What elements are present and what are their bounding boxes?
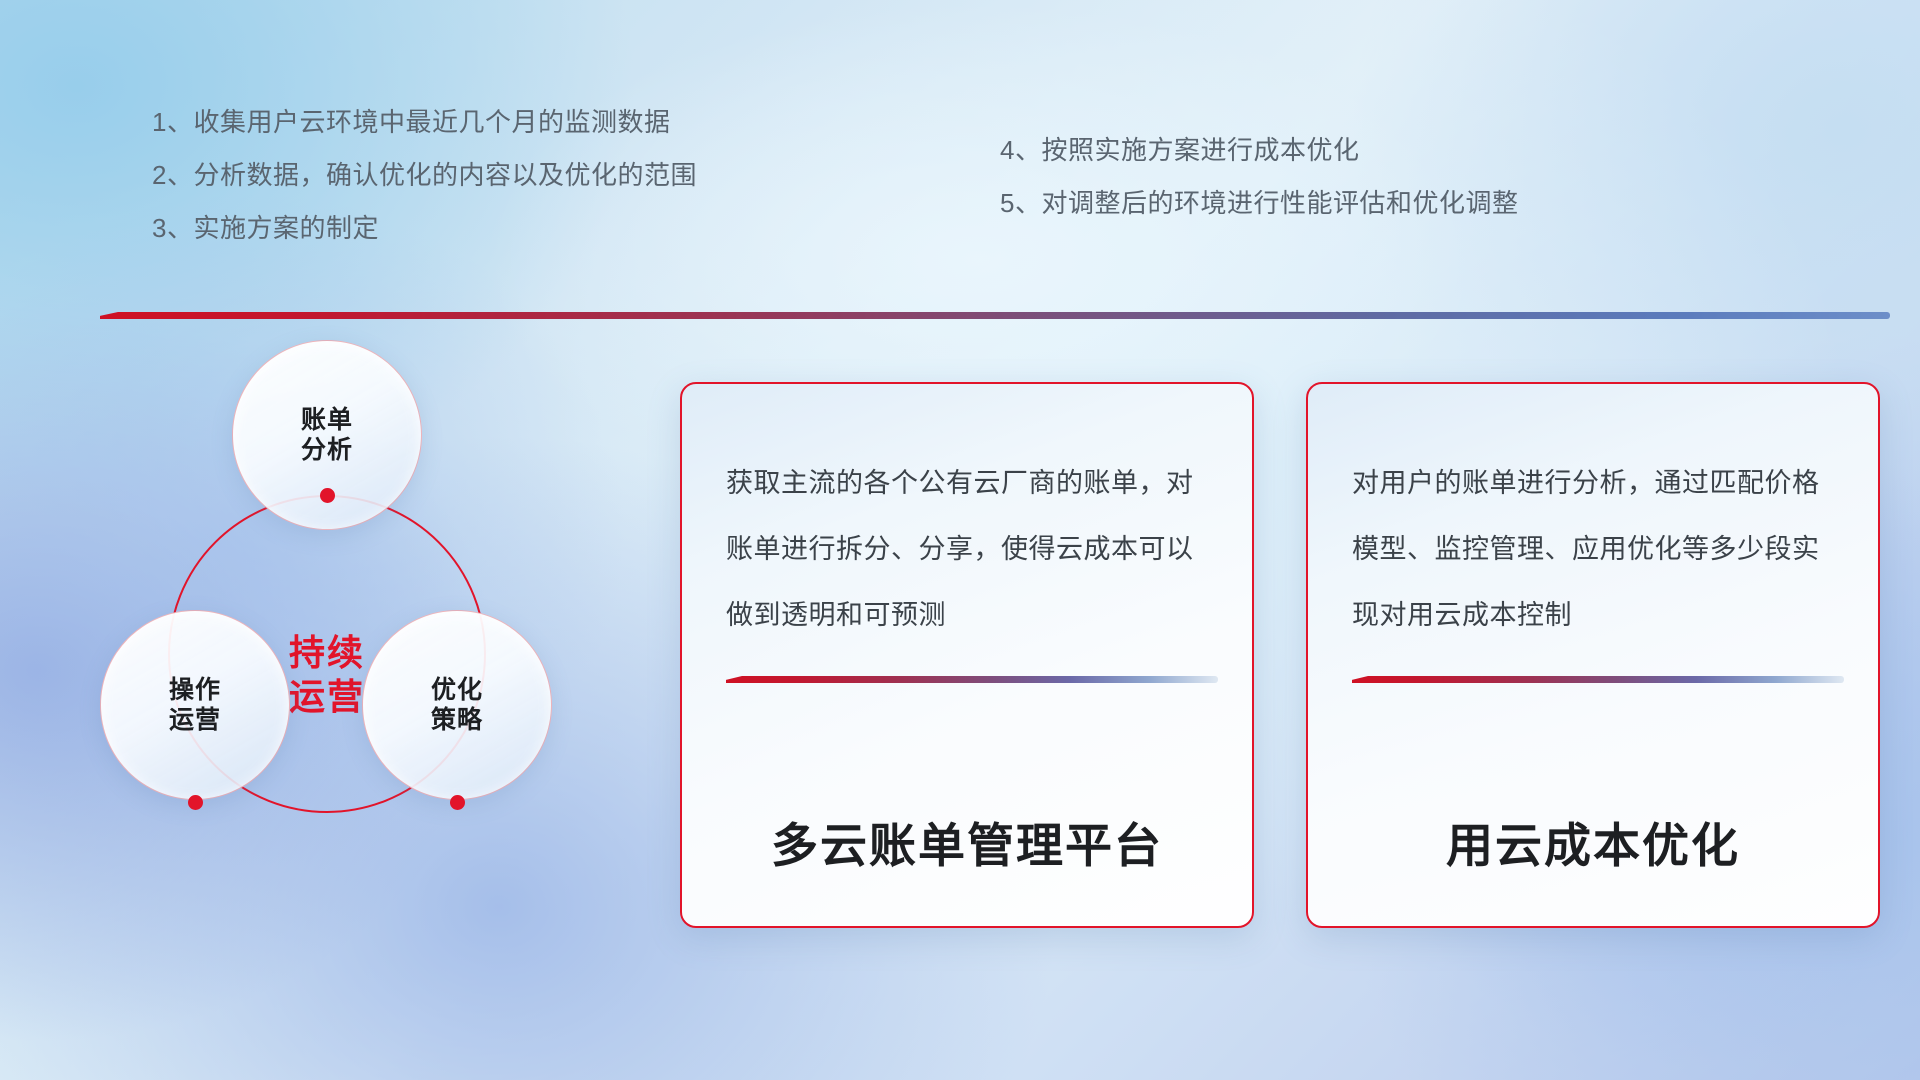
info-card-cost-optimization[interactable]: 对用户的账单进行分析，通过匹配价格模型、监控管理、应用优化等多少段实现对用云成本… xyxy=(1306,382,1880,928)
info-card-cost-optimization-body: 对用户的账单进行分析，通过匹配价格模型、监控管理、应用优化等多少段实现对用云成本… xyxy=(1352,450,1834,648)
info-card-billing-platform-divider xyxy=(726,676,1218,683)
venn-node-top-label-line2: 分析 xyxy=(301,436,353,464)
step-item-1: 1、收集用户云环境中最近几个月的监测数据 xyxy=(152,96,697,149)
info-card-billing-platform[interactable]: 获取主流的各个公有云厂商的账单，对账单进行拆分、分享，使得云成本可以做到透明和可… xyxy=(680,382,1254,928)
venn-center-label-line1: 持续 xyxy=(289,632,365,673)
venn-connector-dot-bottom-right xyxy=(450,795,465,810)
venn-node-bottom-left-label-line2: 运营 xyxy=(169,706,221,734)
steps-right-column: 4、按照实施方案进行成本优化 5、对调整后的环境进行性能评估和优化调整 xyxy=(1000,124,1518,230)
steps-left-column: 1、收集用户云环境中最近几个月的监测数据 2、分析数据，确认优化的内容以及优化的… xyxy=(152,96,697,255)
info-card-cost-optimization-title: 用云成本优化 xyxy=(1352,807,1834,876)
venn-node-bottom-left[interactable]: 操作 运营 xyxy=(100,610,290,800)
venn-node-bottom-right-label-line2: 策略 xyxy=(431,706,483,734)
info-card-billing-platform-body: 获取主流的各个公有云厂商的账单，对账单进行拆分、分享，使得云成本可以做到透明和可… xyxy=(726,450,1208,648)
step-item-3: 3、实施方案的制定 xyxy=(152,202,697,255)
venn-center-label: 持续 运营 xyxy=(289,631,365,719)
venn-connector-dot-top xyxy=(320,488,335,503)
venn-node-bottom-left-label-line1: 操作 xyxy=(169,676,221,704)
venn-center-label-line2: 运营 xyxy=(289,676,365,717)
step-item-2: 2、分析数据，确认优化的内容以及优化的范围 xyxy=(152,149,697,202)
step-item-5: 5、对调整后的环境进行性能评估和优化调整 xyxy=(1000,177,1518,230)
info-card-billing-platform-title: 多云账单管理平台 xyxy=(726,807,1208,876)
venn-node-bottom-right-label-line1: 优化 xyxy=(431,676,483,704)
step-item-4: 4、按照实施方案进行成本优化 xyxy=(1000,124,1518,177)
venn-node-top-label-line1: 账单 xyxy=(301,406,353,434)
venn-node-bottom-right-label: 优化 策略 xyxy=(431,675,483,736)
venn-diagram: 持续 运营 账单 分析 操作 运营 优化 策略 xyxy=(100,340,640,960)
info-card-cost-optimization-divider xyxy=(1352,676,1844,683)
venn-node-bottom-right[interactable]: 优化 策略 xyxy=(362,610,552,800)
venn-node-top-label: 账单 分析 xyxy=(301,405,353,466)
venn-node-bottom-left-label: 操作 运营 xyxy=(169,675,221,736)
info-cards: 获取主流的各个公有云厂商的账单，对账单进行拆分、分享，使得云成本可以做到透明和可… xyxy=(680,382,1880,942)
venn-connector-dot-bottom-left xyxy=(188,795,203,810)
section-divider xyxy=(100,312,1890,319)
steps-section: 1、收集用户云环境中最近几个月的监测数据 2、分析数据，确认优化的内容以及优化的… xyxy=(0,96,1920,256)
